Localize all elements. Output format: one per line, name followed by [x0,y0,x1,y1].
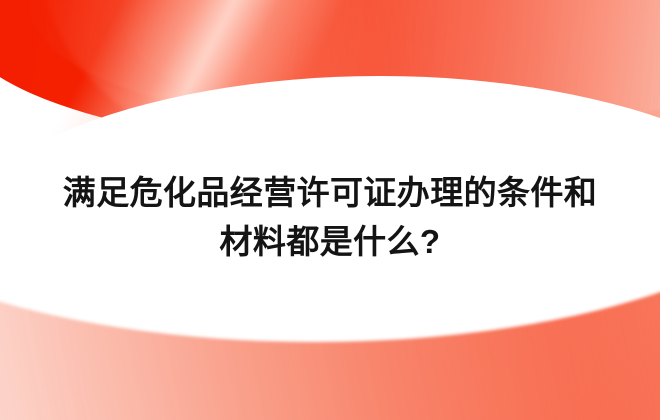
title-banner: 满足危化品经营许可证办理的条件和 材料都是什么? [0,0,660,420]
headline-line-1: 满足危化品经营许可证办理的条件和 [0,168,660,217]
headline-text: 满足危化品经营许可证办理的条件和 材料都是什么? [0,168,660,266]
headline-line-2: 材料都是什么? [0,217,660,266]
